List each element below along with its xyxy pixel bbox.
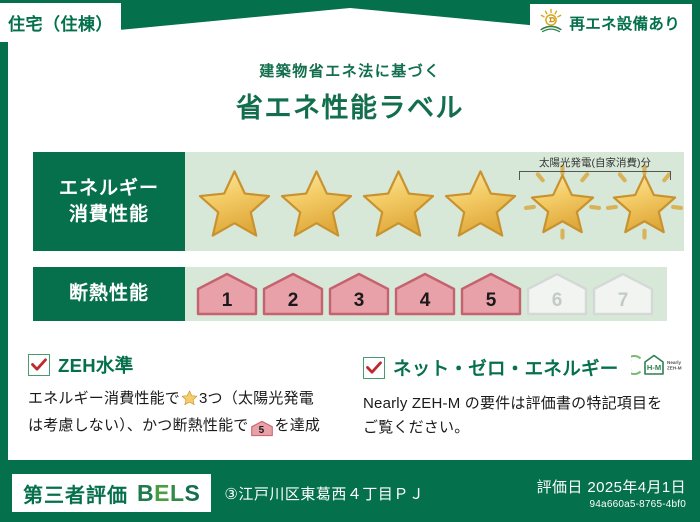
svg-text:Nearly: Nearly [667,360,681,365]
third-party-label: 第三者評価 [23,479,128,508]
criteria-net-zero-title: ネット・ゼロ・エネルギー [393,355,619,381]
bels-badge: 第三者評価 BELS [12,474,211,512]
evaluation-id: 94a660a5-8765-4bf0 [537,499,686,510]
grade-number: 4 [420,290,431,312]
evaluation-date: 評価日 2025年4月1日 [537,476,686,497]
star-item-solar [523,164,602,240]
zeh-text-c: は考慮しない）、かつ断熱性能で [28,417,249,434]
criteria-net-zero-header: ネット・ゼロ・エネルギー H-M Nearly ZEH-M [363,352,673,383]
bels-wordmark: BELS [137,480,200,507]
bels-letter-b: B [137,480,154,506]
criteria-net-zero: ネット・ゼロ・エネルギー H-M Nearly ZEH-M Nearly ZEH… [363,352,673,441]
criteria-zeh-header: ZEH水準 [28,352,338,378]
grade-badge-number: 5 [259,425,265,436]
insulation-grade-scale: 1 2 3 4 [185,272,654,316]
bels-letter-e: E [154,480,170,506]
star-icon [359,164,438,240]
criteria-zeh-text: エネルギー消費性能で3つ（太陽光発電は考慮しない）、かつ断熱性能で5を達成 [28,387,338,439]
grade-house-6: 6 [526,272,588,316]
star-item [195,164,274,240]
category-tag-label: 住宅（住棟） [8,10,113,35]
insulation-grade-area: 1 2 3 4 [185,267,667,321]
criteria-net-zero-text: Nearly ZEH-M の要件は評価書の特記項目をご覧ください。 [363,392,673,441]
title-block: 建築物省エネ法に基づく 省エネ性能ラベル [0,60,700,125]
grade-number: 2 [288,290,299,312]
svg-text:H-M: H-M [646,363,660,372]
grade-badge-inline: 5 [251,420,273,437]
renewable-energy-badge: 再エネ設備あり [530,4,692,42]
evaluation-info: 評価日 2025年4月1日 94a660a5-8765-4bf0 [537,476,686,510]
renewable-energy-badge-label: 再エネ設備あり [569,12,680,34]
criteria-zeh-title: ZEH水準 [58,352,134,378]
energy-performance-label: 住宅（住棟） 再エネ設備あり 建築物省エネ法に基づく 省エネ性能ラベル [0,0,700,522]
grade-house-1: 1 [196,272,258,316]
star-rating [185,164,684,240]
footer: 第三者評価 BELS ③江戸川区東葛西４丁目ＰＪ 評価日 2025年4月1日 9… [0,464,700,522]
star-item [441,164,520,240]
star-item [277,164,356,240]
project-name: ③江戸川区東葛西４丁目ＰＪ [224,483,424,504]
zeh-text-a: エネルギー消費性能で [28,390,180,407]
energy-performance-row: エネルギー 消費性能 [33,152,667,251]
bels-letter-s: S [185,480,201,506]
star-sparkle-icon [605,164,684,240]
bels-letter-l: L [170,480,185,506]
star-item [359,164,438,240]
grade-number: 3 [354,290,365,312]
grade-number: 5 [486,290,497,312]
zeh-text-d: を達成 [275,417,321,434]
grade-number: 1 [222,290,233,312]
zeh-text-b: 3つ（太陽光発電 [199,390,314,407]
insulation-performance-label-block: 断熱性能 [33,267,185,321]
label-subtitle: 建築物省エネ法に基づく [0,60,700,81]
star-icon [181,389,198,414]
criteria-zeh: ZEH水準 エネルギー消費性能で3つ（太陽光発電は考慮しない）、かつ断熱性能で5… [28,352,338,439]
label-title: 省エネ性能ラベル [0,86,700,125]
star-icon [441,164,520,240]
energy-label-line1: エネルギー [59,176,159,201]
grade-house-7: 7 [592,272,654,316]
energy-label-line2: 消費性能 [69,202,149,227]
nearly-zeh-m-logo: H-M Nearly ZEH-M [631,352,685,383]
star-sparkle-icon [523,164,602,240]
solar-sun-icon [538,8,564,39]
insulation-label: 断熱性能 [69,281,149,306]
grade-house-4: 4 [394,272,456,316]
star-icon [195,164,274,240]
energy-performance-label-block: エネルギー 消費性能 [33,152,185,251]
grade-number: 7 [618,290,629,312]
star-item-solar [605,164,684,240]
net-zero-checkbox[interactable] [363,357,385,379]
zeh-checkbox[interactable] [28,354,50,376]
check-icon [31,358,47,372]
svg-text:ZEH-M: ZEH-M [667,366,682,371]
check-icon [366,361,382,375]
grade-house-2: 2 [262,272,324,316]
star-icon [277,164,356,240]
grade-house-3: 3 [328,272,390,316]
grade-house-5: 5 [460,272,522,316]
insulation-performance-row: 断熱性能 1 2 [33,267,667,321]
grade-number: 6 [552,290,563,312]
energy-performance-stars-area: 太陽光発電(自家消費)分 [185,152,684,251]
category-tag: 住宅（住棟） [0,3,121,42]
